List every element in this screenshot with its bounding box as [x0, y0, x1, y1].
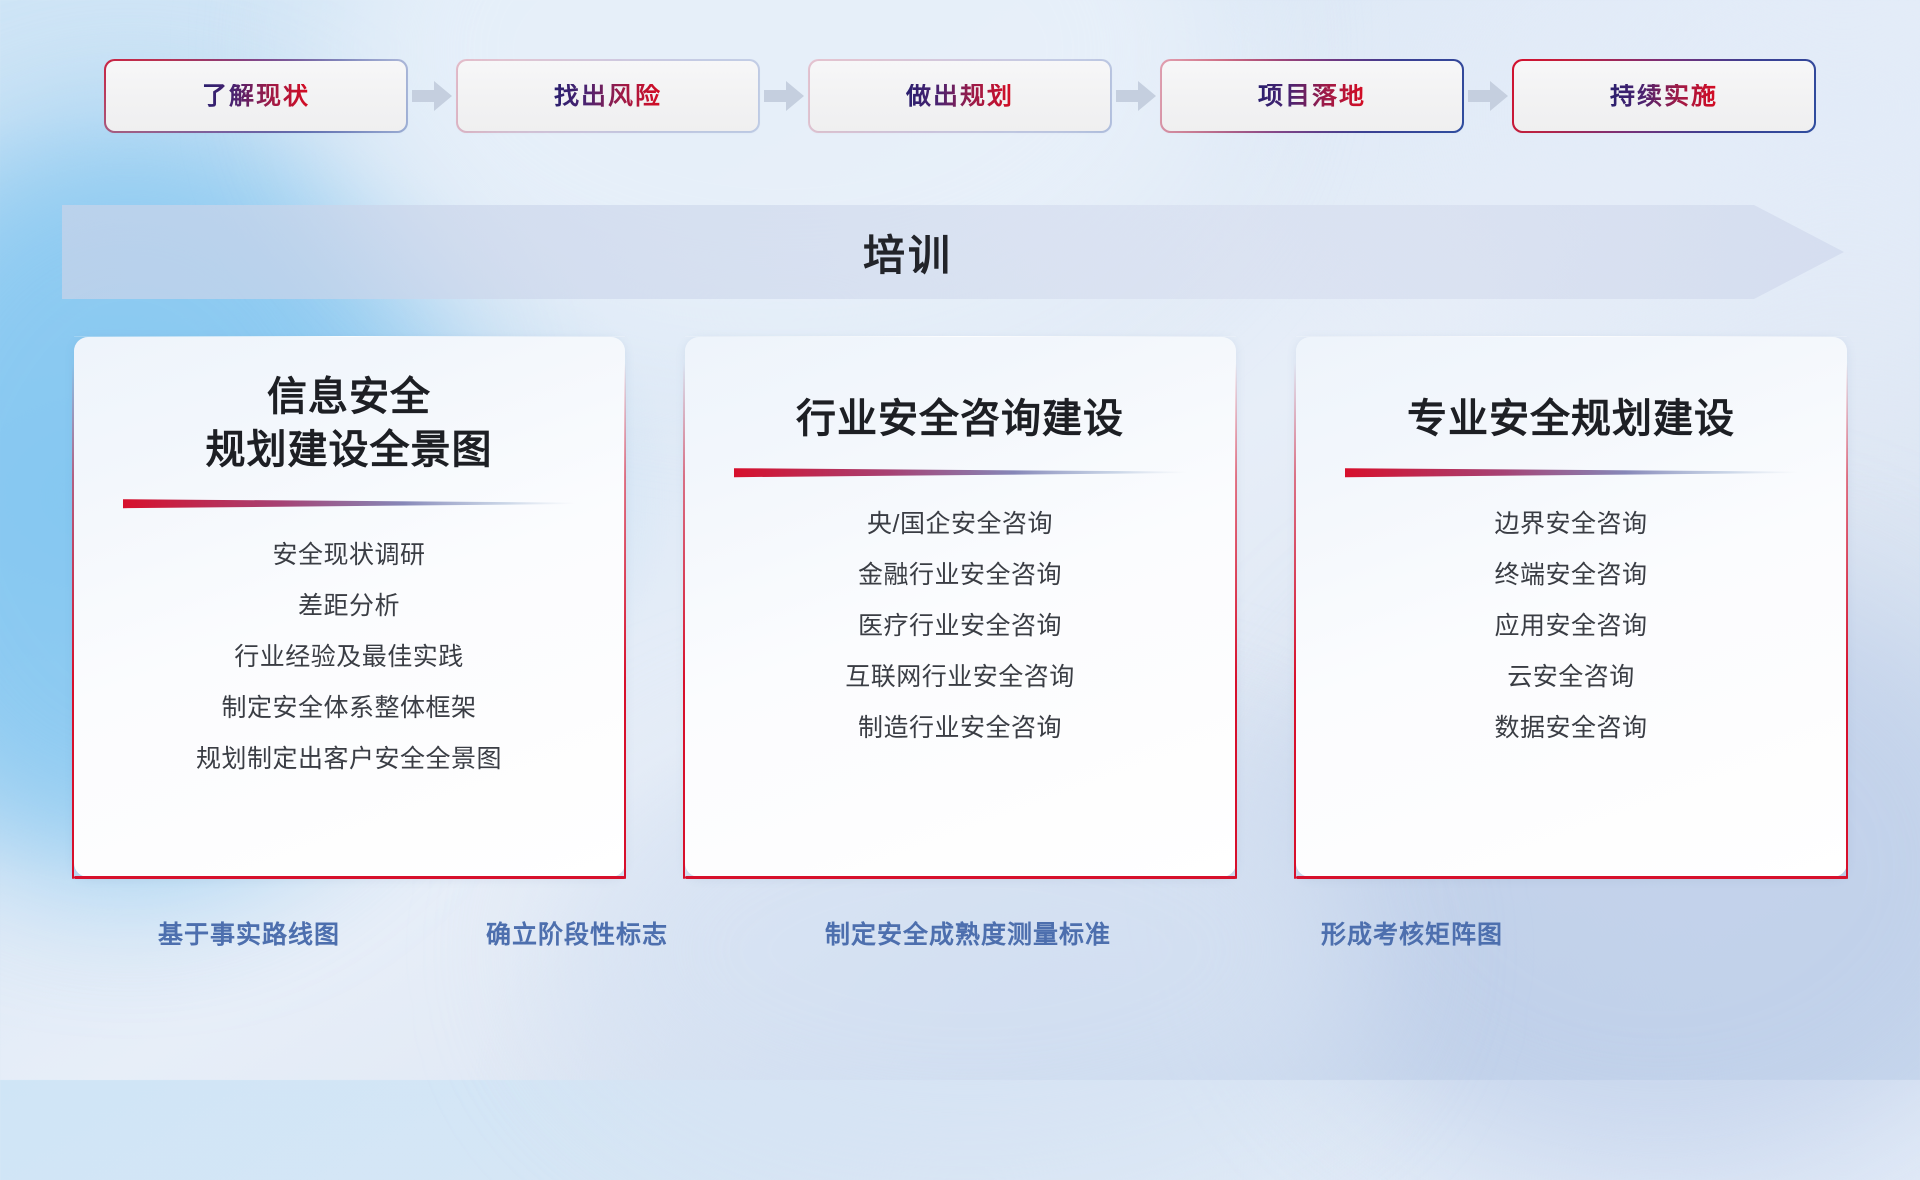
card-professional-security-planning[interactable]: 专业安全规划建设 边界安全咨询 终端安全咨询 应用安全咨询 云 — [1296, 337, 1847, 877]
list-item: 医疗行业安全咨询 — [858, 601, 1062, 652]
card-title: 行业安全咨询建设 — [772, 393, 1148, 446]
process-step-row: 了解现状 找出风险 做出规划 项目落地 持续实施 — [0, 60, 1920, 132]
step-arrow-icon-1 — [406, 61, 458, 131]
footer-label-milestones: 确立阶段性标志 — [486, 915, 668, 951]
list-item: 差距分析 — [298, 581, 400, 632]
process-step-label: 项目落地 — [1258, 84, 1366, 109]
card-industry-security-consulting[interactable]: 行业安全咨询建设 央/国企安全咨询 金融行业安全咨询 医疗行业安全咨询 — [685, 337, 1236, 877]
card-title: 信息安全 规划建设全景图 — [182, 371, 517, 477]
list-item: 应用安全咨询 — [1494, 601, 1647, 652]
card-bottom-accent — [1296, 876, 1847, 878]
card-title: 专业安全规划建设 — [1383, 393, 1759, 446]
card-divider-icon — [1345, 466, 1797, 479]
list-item: 终端安全咨询 — [1494, 550, 1647, 601]
card-bottom-accent — [685, 876, 1236, 878]
process-step-2[interactable]: 找出风险 — [458, 61, 758, 131]
process-step-1[interactable]: 了解现状 — [106, 61, 406, 131]
list-item: 互联网行业安全咨询 — [845, 652, 1075, 703]
list-item: 边界安全咨询 — [1494, 499, 1647, 550]
step-arrow-icon-4 — [1462, 61, 1514, 131]
footer-label-roadmap: 基于事实路线图 — [158, 915, 340, 951]
footer-label-row: 基于事实路线图 确立阶段性标志 制定安全成熟度测量标准 形成考核矩阵图 — [0, 915, 1920, 965]
process-step-label: 了解现状 — [202, 84, 310, 109]
process-step-5[interactable]: 持续实施 — [1514, 61, 1814, 131]
banner-title: 培训 — [62, 205, 1754, 299]
card-divider-icon — [123, 497, 575, 510]
background-blob-top — [330, 0, 1230, 360]
list-item: 制定安全体系整体框架 — [221, 683, 476, 734]
card-item-list: 央/国企安全咨询 金融行业安全咨询 医疗行业安全咨询 互联网行业安全咨询 制造行… — [685, 499, 1236, 754]
list-item: 制造行业安全咨询 — [858, 703, 1062, 754]
card-top-highlight — [685, 336, 1236, 338]
card-info-security-blueprint[interactable]: 信息安全 规划建设全景图 安全现状调研 差距分析 行业经验及最佳实践 — [74, 337, 625, 877]
footer-label-assessment-matrix: 形成考核矩阵图 — [1321, 915, 1503, 951]
list-item: 安全现状调研 — [272, 530, 425, 581]
process-step-label: 做出规划 — [906, 84, 1014, 109]
list-item: 金融行业安全咨询 — [858, 550, 1062, 601]
card-item-list: 安全现状调研 差距分析 行业经验及最佳实践 制定安全体系整体框架 规划制定出客户… — [74, 530, 625, 785]
list-item: 行业经验及最佳实践 — [234, 632, 464, 683]
card-bottom-accent — [74, 876, 625, 878]
card-row: 信息安全 规划建设全景图 安全现状调研 差距分析 行业经验及最佳实践 — [0, 337, 1920, 877]
card-top-highlight — [1296, 336, 1847, 338]
process-step-4[interactable]: 项目落地 — [1162, 61, 1462, 131]
process-step-3[interactable]: 做出规划 — [810, 61, 1110, 131]
list-item: 规划制定出客户安全全景图 — [196, 734, 502, 785]
process-step-label: 找出风险 — [554, 84, 662, 109]
list-item: 央/国企安全咨询 — [867, 499, 1053, 550]
process-step-label: 持续实施 — [1610, 84, 1718, 109]
card-top-highlight — [74, 336, 625, 338]
list-item: 数据安全咨询 — [1494, 703, 1647, 754]
step-arrow-icon-2 — [758, 61, 810, 131]
training-banner: 培训 — [62, 205, 1844, 299]
card-divider-icon — [734, 466, 1186, 479]
list-item: 云安全咨询 — [1507, 652, 1635, 703]
step-arrow-icon-3 — [1110, 61, 1162, 131]
card-item-list: 边界安全咨询 终端安全咨询 应用安全咨询 云安全咨询 数据安全咨询 — [1296, 499, 1847, 754]
footer-label-maturity-standard: 制定安全成熟度测量标准 — [825, 915, 1111, 951]
